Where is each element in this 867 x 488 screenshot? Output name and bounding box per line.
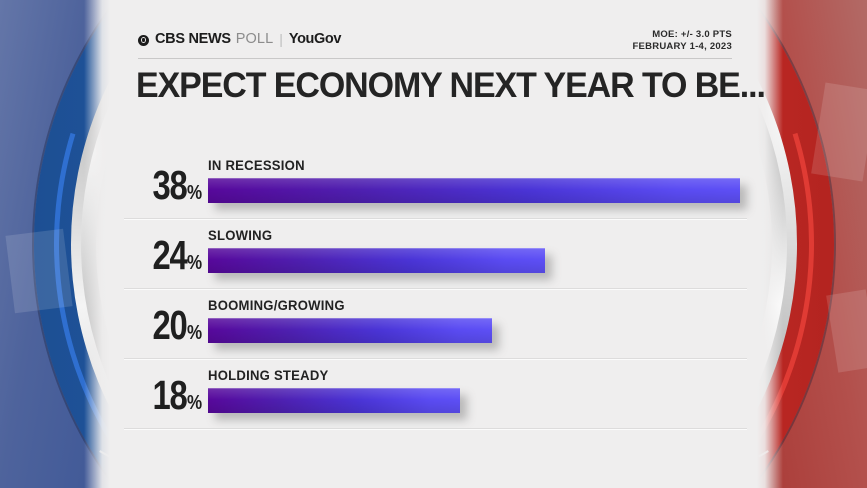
row-percent: 38% — [120, 165, 204, 206]
row-label: BOOMING/GROWING — [208, 298, 345, 313]
row-bar — [208, 248, 545, 273]
poll-graphic: CBS NEWS POLL | YouGov MOE: +/- 3.0 PTS … — [0, 0, 867, 488]
content-layer: CBS NEWS POLL | YouGov MOE: +/- 3.0 PTS … — [0, 0, 867, 488]
brand-yougov-text: YouGov — [289, 31, 341, 47]
row-percent-value: 24 — [153, 235, 187, 276]
row-bar — [208, 388, 460, 413]
table-row: 20%BOOMING/GROWING — [0, 290, 867, 360]
bar-chart-rows: 38%IN RECESSION24%SLOWING20%BOOMING/GROW… — [0, 150, 867, 430]
row-percent: 24% — [120, 235, 204, 276]
page-title: EXPECT ECONOMY NEXT YEAR TO BE... — [136, 66, 765, 106]
table-row: 24%SLOWING — [0, 220, 867, 290]
row-percent-symbol: % — [187, 252, 202, 275]
row-percent: 18% — [120, 375, 204, 416]
brand-separator: | — [279, 31, 283, 47]
row-percent-symbol: % — [187, 182, 202, 205]
field-date-line: FEBRUARY 1-4, 2023 — [632, 41, 732, 53]
brand-yougov: YouGov — [289, 31, 341, 47]
header: CBS NEWS POLL | YouGov MOE: +/- 3.0 PTS … — [138, 28, 732, 52]
header-divider — [138, 58, 732, 59]
row-bar — [208, 178, 740, 203]
row-label: IN RECESSION — [208, 158, 305, 173]
moe-line: MOE: +/- 3.0 PTS — [632, 29, 732, 41]
row-label: SLOWING — [208, 228, 272, 243]
row-divider — [124, 429, 747, 430]
row-percent-value: 20 — [153, 305, 187, 346]
margin-of-error-block: MOE: +/- 3.0 PTS FEBRUARY 1-4, 2023 — [632, 28, 732, 52]
brand-poll: POLL — [236, 31, 273, 47]
cbs-eye-icon — [138, 35, 149, 46]
brand-lockup: CBS NEWS POLL | YouGov — [138, 28, 341, 47]
table-row: 38%IN RECESSION — [0, 150, 867, 220]
table-row: 18%HOLDING STEADY — [0, 360, 867, 430]
row-label: HOLDING STEADY — [208, 368, 329, 383]
row-bar — [208, 318, 492, 343]
row-percent-symbol: % — [187, 392, 202, 415]
row-percent-value: 38 — [153, 165, 187, 206]
row-percent-symbol: % — [187, 322, 202, 345]
brand-cbs-news: CBS NEWS — [155, 31, 231, 47]
row-percent: 20% — [120, 305, 204, 346]
row-percent-value: 18 — [153, 375, 187, 416]
